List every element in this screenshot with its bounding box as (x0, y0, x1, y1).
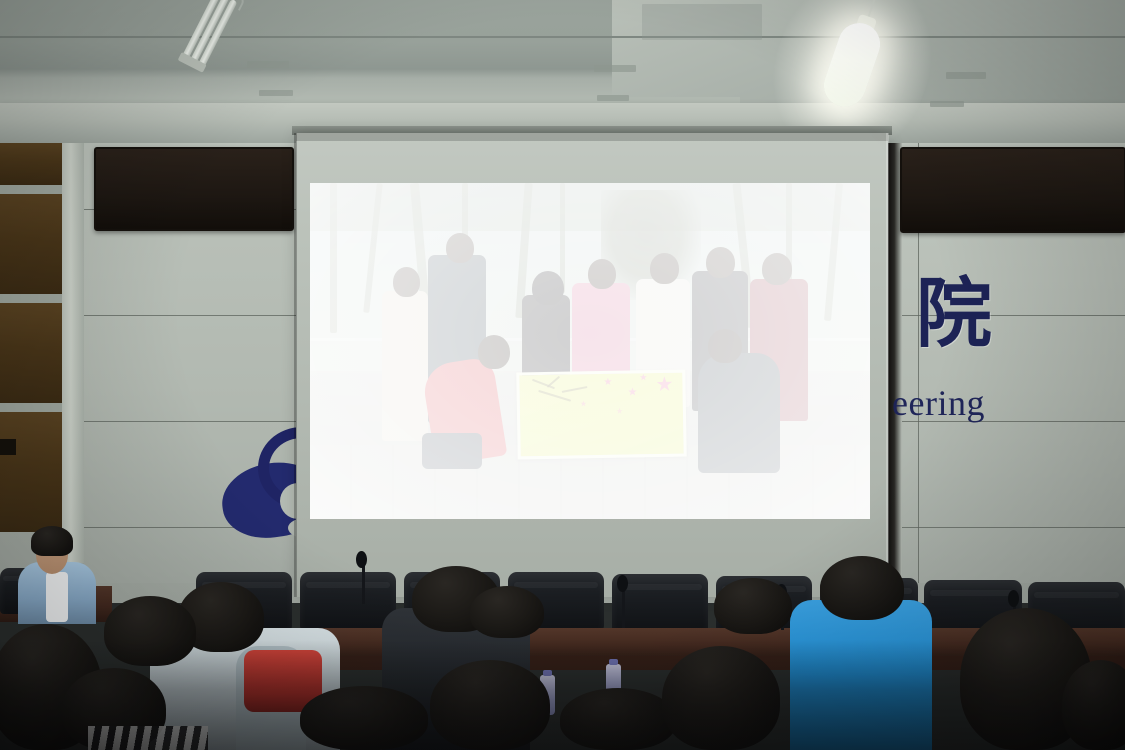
foreground-shadow-overlay (0, 640, 1125, 750)
conference-chair (300, 572, 396, 630)
audience-member-head (820, 556, 904, 620)
presenter-hair (31, 526, 73, 556)
microphone-head (617, 575, 628, 592)
audience-member-head (714, 578, 792, 634)
audience-member-head (470, 586, 544, 638)
foreground (0, 0, 1125, 750)
presenter-shirt (46, 572, 68, 622)
lecture-hall-scene: 院 eering (0, 0, 1125, 750)
microphone-head (1008, 590, 1019, 607)
microphone-head (356, 551, 367, 568)
